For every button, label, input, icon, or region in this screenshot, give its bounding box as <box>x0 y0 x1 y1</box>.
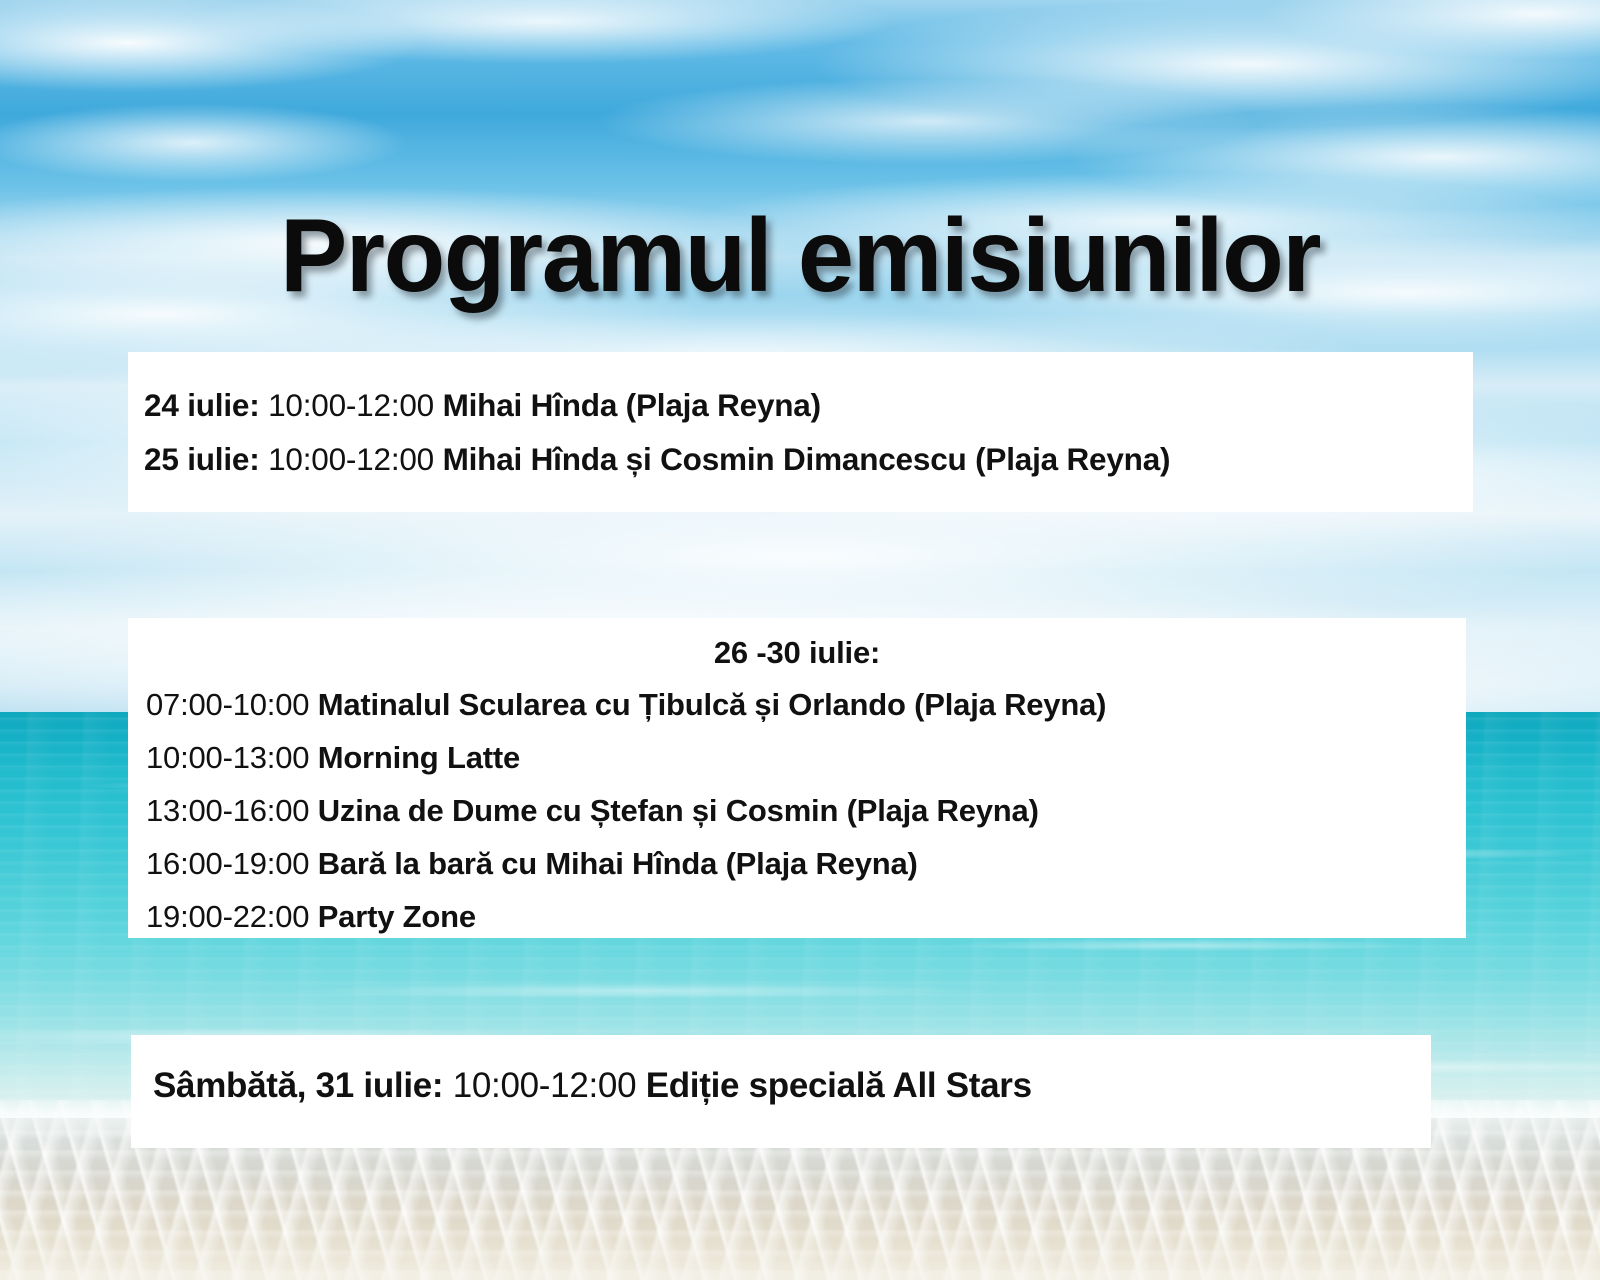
schedule-time: 19:00-22:00 <box>146 899 309 934</box>
schedule-show-title: Morning Latte <box>318 740 520 775</box>
schedule-row: 25 iulie: 10:00-12:00 Mihai Hînda și Cos… <box>144 432 1463 486</box>
panel-early-dates: 24 iulie: 10:00-12:00 Mihai Hînda (Plaja… <box>128 352 1473 512</box>
panel-weekly-schedule: 26 -30 iulie: 07:00-10:00 Matinalul Scul… <box>128 618 1466 938</box>
schedule-date-label: Sâmbătă, 31 iulie: <box>153 1066 443 1105</box>
schedule-row: 10:00-13:00 Morning Latte <box>138 731 1456 784</box>
schedule-date-label: 25 iulie: <box>144 441 260 477</box>
weekly-schedule-heading: 26 -30 iulie: <box>138 628 1456 678</box>
schedule-time: 16:00-19:00 <box>146 846 309 881</box>
schedule-show-title: Party Zone <box>318 899 476 934</box>
panel-saturday-special: Sâmbătă, 31 iulie: 10:00-12:00 Ediție sp… <box>131 1035 1431 1148</box>
schedule-show-title: Bară la bară cu Mihai Hînda (Plaja Reyna… <box>318 846 918 881</box>
schedule-time: 10:00-12:00 <box>268 387 434 423</box>
schedule-time: 07:00-10:00 <box>146 687 309 722</box>
schedule-show-title: Ediție specială All Stars <box>646 1066 1032 1105</box>
schedule-date-label: 24 iulie: <box>144 387 260 423</box>
schedule-time: 10:00-12:00 <box>453 1066 637 1105</box>
schedule-row: 16:00-19:00 Bară la bară cu Mihai Hînda … <box>138 837 1456 890</box>
poster-content: Programul emisiunilor 24 iulie: 10:00-12… <box>0 0 1600 1280</box>
schedule-row: 07:00-10:00 Matinalul Scularea cu Țibulc… <box>138 678 1456 731</box>
page-title: Programul emisiunilor <box>24 204 1576 308</box>
schedule-row: 24 iulie: 10:00-12:00 Mihai Hînda (Plaja… <box>144 378 1463 432</box>
schedule-show-title: Mihai Hînda și Cosmin Dimancescu (Plaja … <box>443 441 1171 477</box>
schedule-show-title: Uzina de Dume cu Ștefan și Cosmin (Plaja… <box>318 793 1039 828</box>
schedule-row: Sâmbătă, 31 iulie: 10:00-12:00 Ediție sp… <box>153 1061 1421 1111</box>
poster-canvas: Programul emisiunilor 24 iulie: 10:00-12… <box>0 0 1600 1280</box>
schedule-show-title: Mihai Hînda (Plaja Reyna) <box>443 387 821 423</box>
schedule-show-title: Matinalul Scularea cu Țibulcă și Orlando… <box>318 687 1107 722</box>
schedule-time: 10:00-12:00 <box>268 441 434 477</box>
schedule-row: 13:00-16:00 Uzina de Dume cu Ștefan și C… <box>138 784 1456 837</box>
schedule-time: 13:00-16:00 <box>146 793 309 828</box>
schedule-row: 19:00-22:00 Party Zone <box>138 890 1456 943</box>
schedule-time: 10:00-13:00 <box>146 740 309 775</box>
